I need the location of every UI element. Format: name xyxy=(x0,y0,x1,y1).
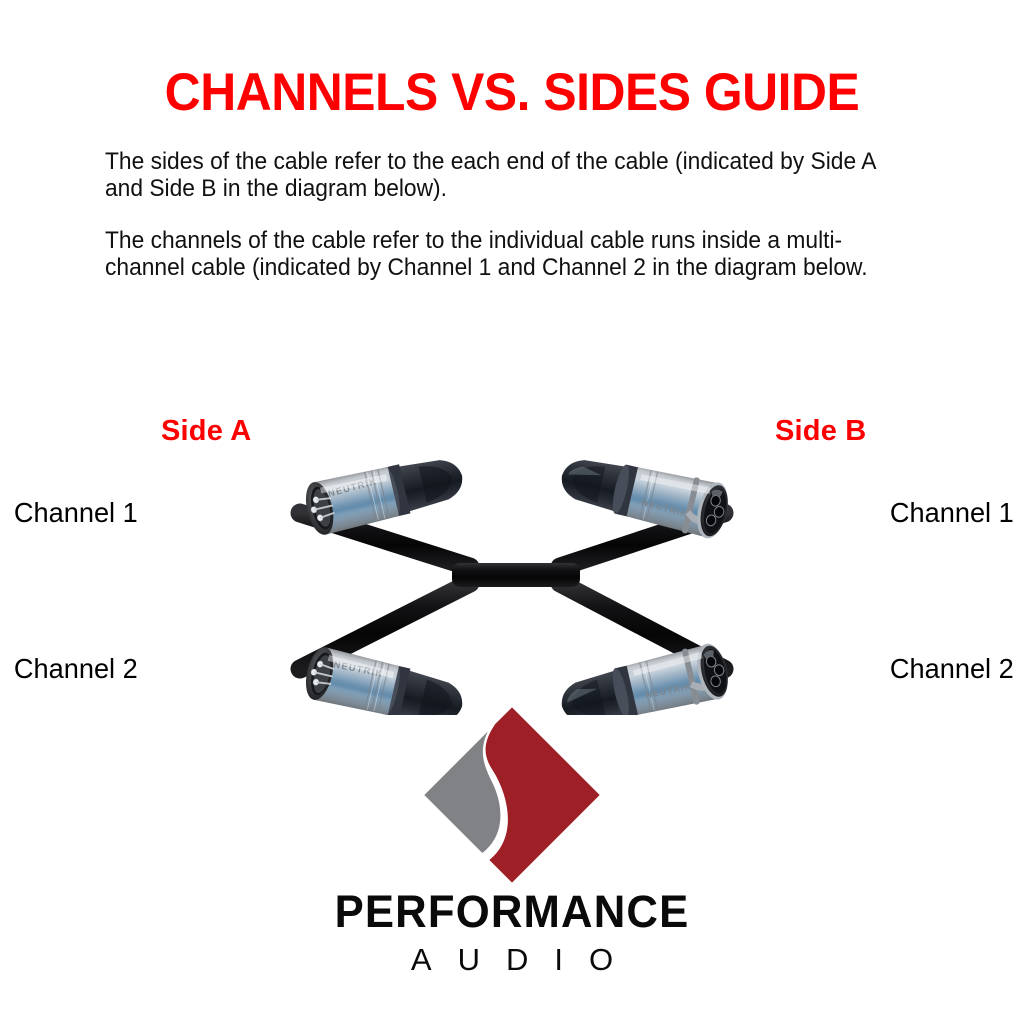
brand-name: PERFORMANCE xyxy=(15,886,1008,938)
connector-side-b-channel-1 xyxy=(556,448,733,542)
cable-runs xyxy=(300,513,724,669)
cable-diagram: Side A Side B Channel 1 Channel 2 Channe… xyxy=(0,395,1024,715)
page-title: CHANNELS VS. SIDES GUIDE xyxy=(31,62,994,123)
brand-name-text: PERFORMANCE xyxy=(335,886,690,937)
connector-side-a-channel-1 xyxy=(301,449,468,537)
performance-audio-diamond-icon xyxy=(424,700,600,890)
intro-paragraph-channels: The channels of the cable refer to the i… xyxy=(105,227,900,281)
brand-subtitle: AUDIO xyxy=(0,942,1024,978)
cable-illustration: NEUTRIK xyxy=(0,395,1024,715)
intro-paragraph-sides: The sides of the cable refer to the each… xyxy=(105,148,900,202)
brand-logo: PERFORMANCE AUDIO xyxy=(0,700,1024,978)
intro-text-block: The sides of the cable refer to the each… xyxy=(105,148,960,281)
